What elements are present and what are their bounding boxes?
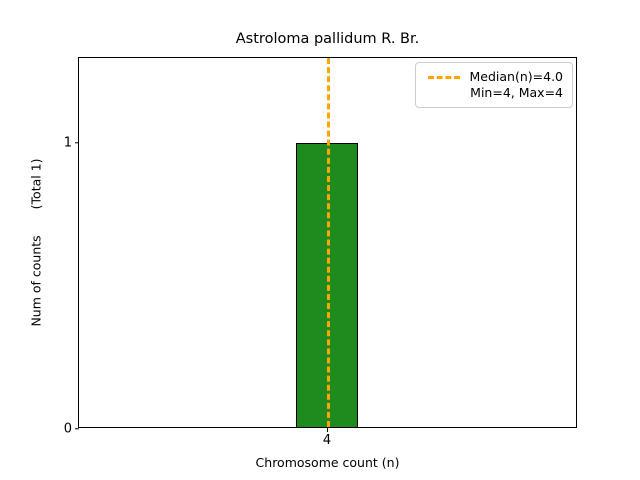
y-tick-label: 1 — [64, 137, 79, 150]
chart-title: Astroloma pallidum R. Br. — [78, 30, 577, 48]
legend-label: Median(n)=4.0 — [470, 69, 564, 85]
plot-inner — [79, 58, 576, 427]
legend-label: Min=4, Max=4 — [470, 85, 563, 101]
plot-area: 0 1 4 Median(n)=4.0 Min=4, Max=4 — [78, 57, 577, 428]
y-axis-label-total: (Total 1) — [29, 158, 44, 209]
y-axis-label-primary: Num of counts — [29, 235, 44, 326]
median-line — [327, 58, 330, 427]
legend-entry-median: Median(n)=4.0 — [425, 69, 563, 85]
legend-dashed-line-icon — [428, 76, 460, 79]
x-tick-label: 4 — [323, 434, 331, 448]
legend-entry-minmax: Min=4, Max=4 — [425, 85, 563, 101]
y-axis-label: Num of counts (Total 1) — [26, 57, 46, 428]
chart-figure: Astroloma pallidum R. Br. Num of counts … — [0, 0, 640, 480]
x-axis-label: Chromosome count (n) — [78, 455, 577, 470]
y-tick-label: 0 — [64, 423, 79, 436]
x-tick-mark — [327, 427, 328, 432]
legend: Median(n)=4.0 Min=4, Max=4 — [415, 62, 573, 108]
